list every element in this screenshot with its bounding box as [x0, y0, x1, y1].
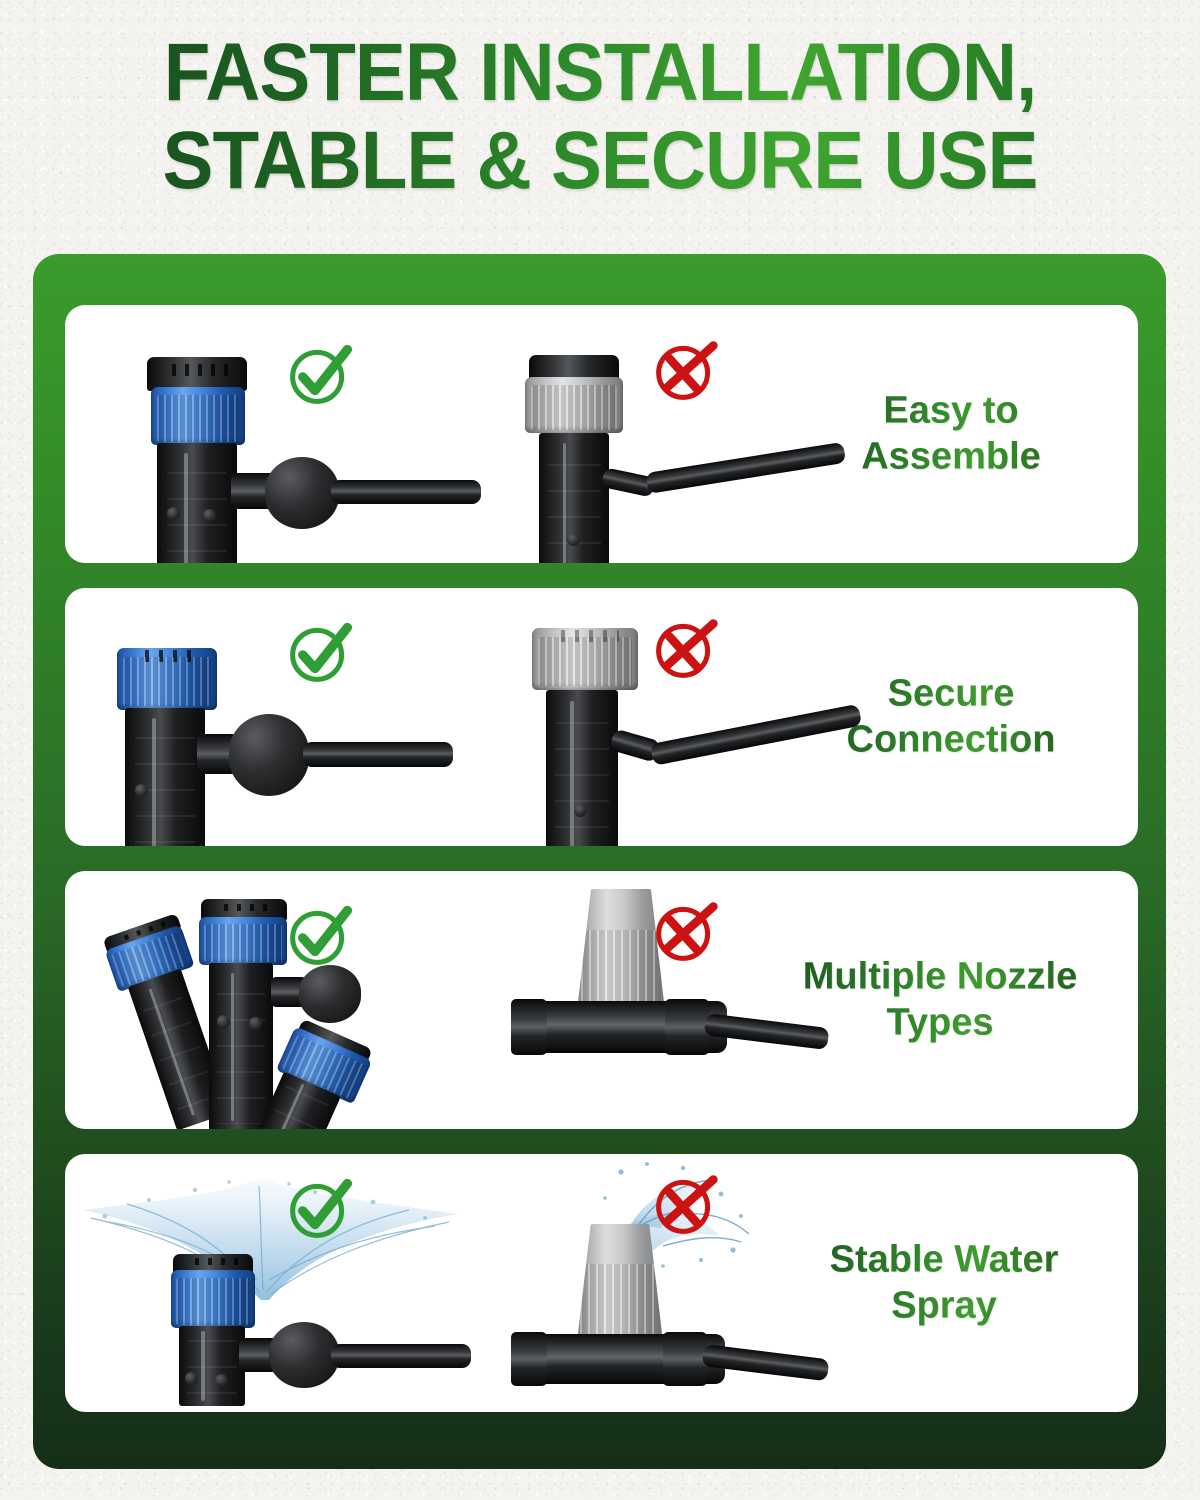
nozzle-top-black-ring	[147, 357, 247, 391]
feature-card-easy-to-assemble: Easy to Assemble	[65, 305, 1138, 563]
nozzle-cap-blue	[151, 387, 245, 445]
bad-secure-stake-body	[546, 690, 618, 846]
spray-stake-ribs	[187, 1340, 237, 1402]
feature-card-stable-water-spray: Stable Water Spray	[65, 1154, 1138, 1412]
spray-elbow-fitting	[269, 1322, 339, 1388]
feature-label-line-2: Spray	[891, 1285, 997, 1327]
center-nozzle-cap-blue	[199, 917, 287, 965]
bad-spray-nozzle-flutes	[580, 1264, 659, 1342]
product-good-secure-blue-assembly	[93, 648, 423, 846]
cluster-elbow-fitting	[299, 965, 361, 1023]
elbow-fitting	[265, 457, 339, 529]
secure-nozzle-cap-blue	[117, 648, 217, 710]
secure-stake-body	[125, 708, 205, 846]
secure-hose-line	[303, 742, 453, 767]
check-circle-icon	[284, 1172, 356, 1244]
bad-secure-stake-ribs	[555, 722, 610, 846]
product-good-blue-nozzle-assembly	[125, 357, 425, 563]
check-circle-icon	[284, 338, 356, 410]
tee-collar-right	[665, 999, 709, 1055]
feature-label-stable-water-spray: Stable Water Spray	[764, 1237, 1124, 1330]
center-nozzle-slots	[215, 904, 273, 911]
page-title-line-1: FASTER INSTALLATION,	[42, 34, 1158, 112]
center-stake-boss-1	[217, 1015, 230, 1028]
spray-stake-boss-2	[215, 1374, 228, 1387]
bad-stake-ribs	[547, 464, 600, 563]
secure-elbow-fitting	[229, 714, 309, 796]
feature-label-line-1: Multiple Nozzle	[803, 956, 1077, 998]
bad-nozzle-cap-knurling	[531, 385, 617, 430]
hose-line	[331, 480, 481, 504]
feature-label-line-2: Types	[886, 1002, 993, 1044]
secure-stake-boss	[135, 784, 148, 797]
cross-circle-icon	[650, 612, 722, 684]
nozzle-cap-knurling	[157, 395, 240, 441]
feature-label-easy-to-assemble: Easy to Assemble	[786, 388, 1116, 481]
bad-spray-tee-collar-left	[511, 1332, 547, 1386]
spray-nozzle-knurling	[176, 1278, 250, 1324]
feature-card-multiple-nozzle-types: Multiple Nozzle Types	[65, 871, 1138, 1129]
cross-circle-icon	[650, 334, 722, 406]
bad-spray-grey-nozzle-cap	[577, 1224, 663, 1342]
bad-nozzle-cap-grey	[525, 377, 623, 433]
product-good-multi-nozzle-cluster	[75, 891, 435, 1129]
feature-label-multiple-nozzle-types: Multiple Nozzle Types	[750, 954, 1130, 1047]
spray-nozzle-slots	[186, 1258, 240, 1265]
spray-nozzle-cap-blue	[171, 1270, 255, 1328]
center-stake-boss-2	[249, 1017, 262, 1030]
check-circle-icon	[284, 616, 356, 688]
spray-hose-line	[331, 1344, 471, 1368]
feature-label-secure-connection: Secure Connection	[786, 671, 1116, 764]
center-nozzle-knurling	[204, 924, 281, 962]
feature-label-line-2: Connection	[847, 719, 1056, 761]
right-stake-ribs	[266, 1085, 329, 1129]
bad-stake-boss	[567, 533, 580, 546]
page-title: FASTER INSTALLATION, STABLE & SECURE USE	[0, 34, 1200, 200]
feature-label-line-2: Assemble	[861, 436, 1041, 478]
cross-circle-icon	[650, 1168, 722, 1240]
nozzle-stake-body	[157, 443, 237, 563]
feature-label-line-1: Secure	[888, 673, 1015, 715]
feature-card-secure-connection: Secure Connection	[65, 588, 1138, 846]
spray-stake-boss-1	[185, 1372, 198, 1385]
spray-stake-body	[179, 1326, 245, 1406]
stake-boss-upper	[167, 507, 180, 520]
secure-cap-knurling	[123, 657, 211, 707]
bad-spray-tee-collar-right	[663, 1332, 707, 1386]
feature-label-line-1: Easy to	[883, 390, 1018, 432]
page-title-line-2: STABLE & SECURE USE	[42, 122, 1158, 200]
bad-secure-cap-knurling	[538, 637, 631, 687]
nozzle-top-slots	[163, 364, 231, 376]
bad-secure-cap-grey	[532, 628, 638, 690]
feature-label-line-1: Stable Water	[830, 1239, 1059, 1281]
cross-circle-icon	[650, 895, 722, 967]
tee-collar-left	[511, 999, 547, 1055]
bad-secure-stake-boss	[574, 804, 587, 817]
product-good-spray-nozzle-assembly	[151, 1254, 451, 1404]
stake-boss-lower	[203, 509, 216, 522]
check-circle-icon	[284, 899, 356, 971]
